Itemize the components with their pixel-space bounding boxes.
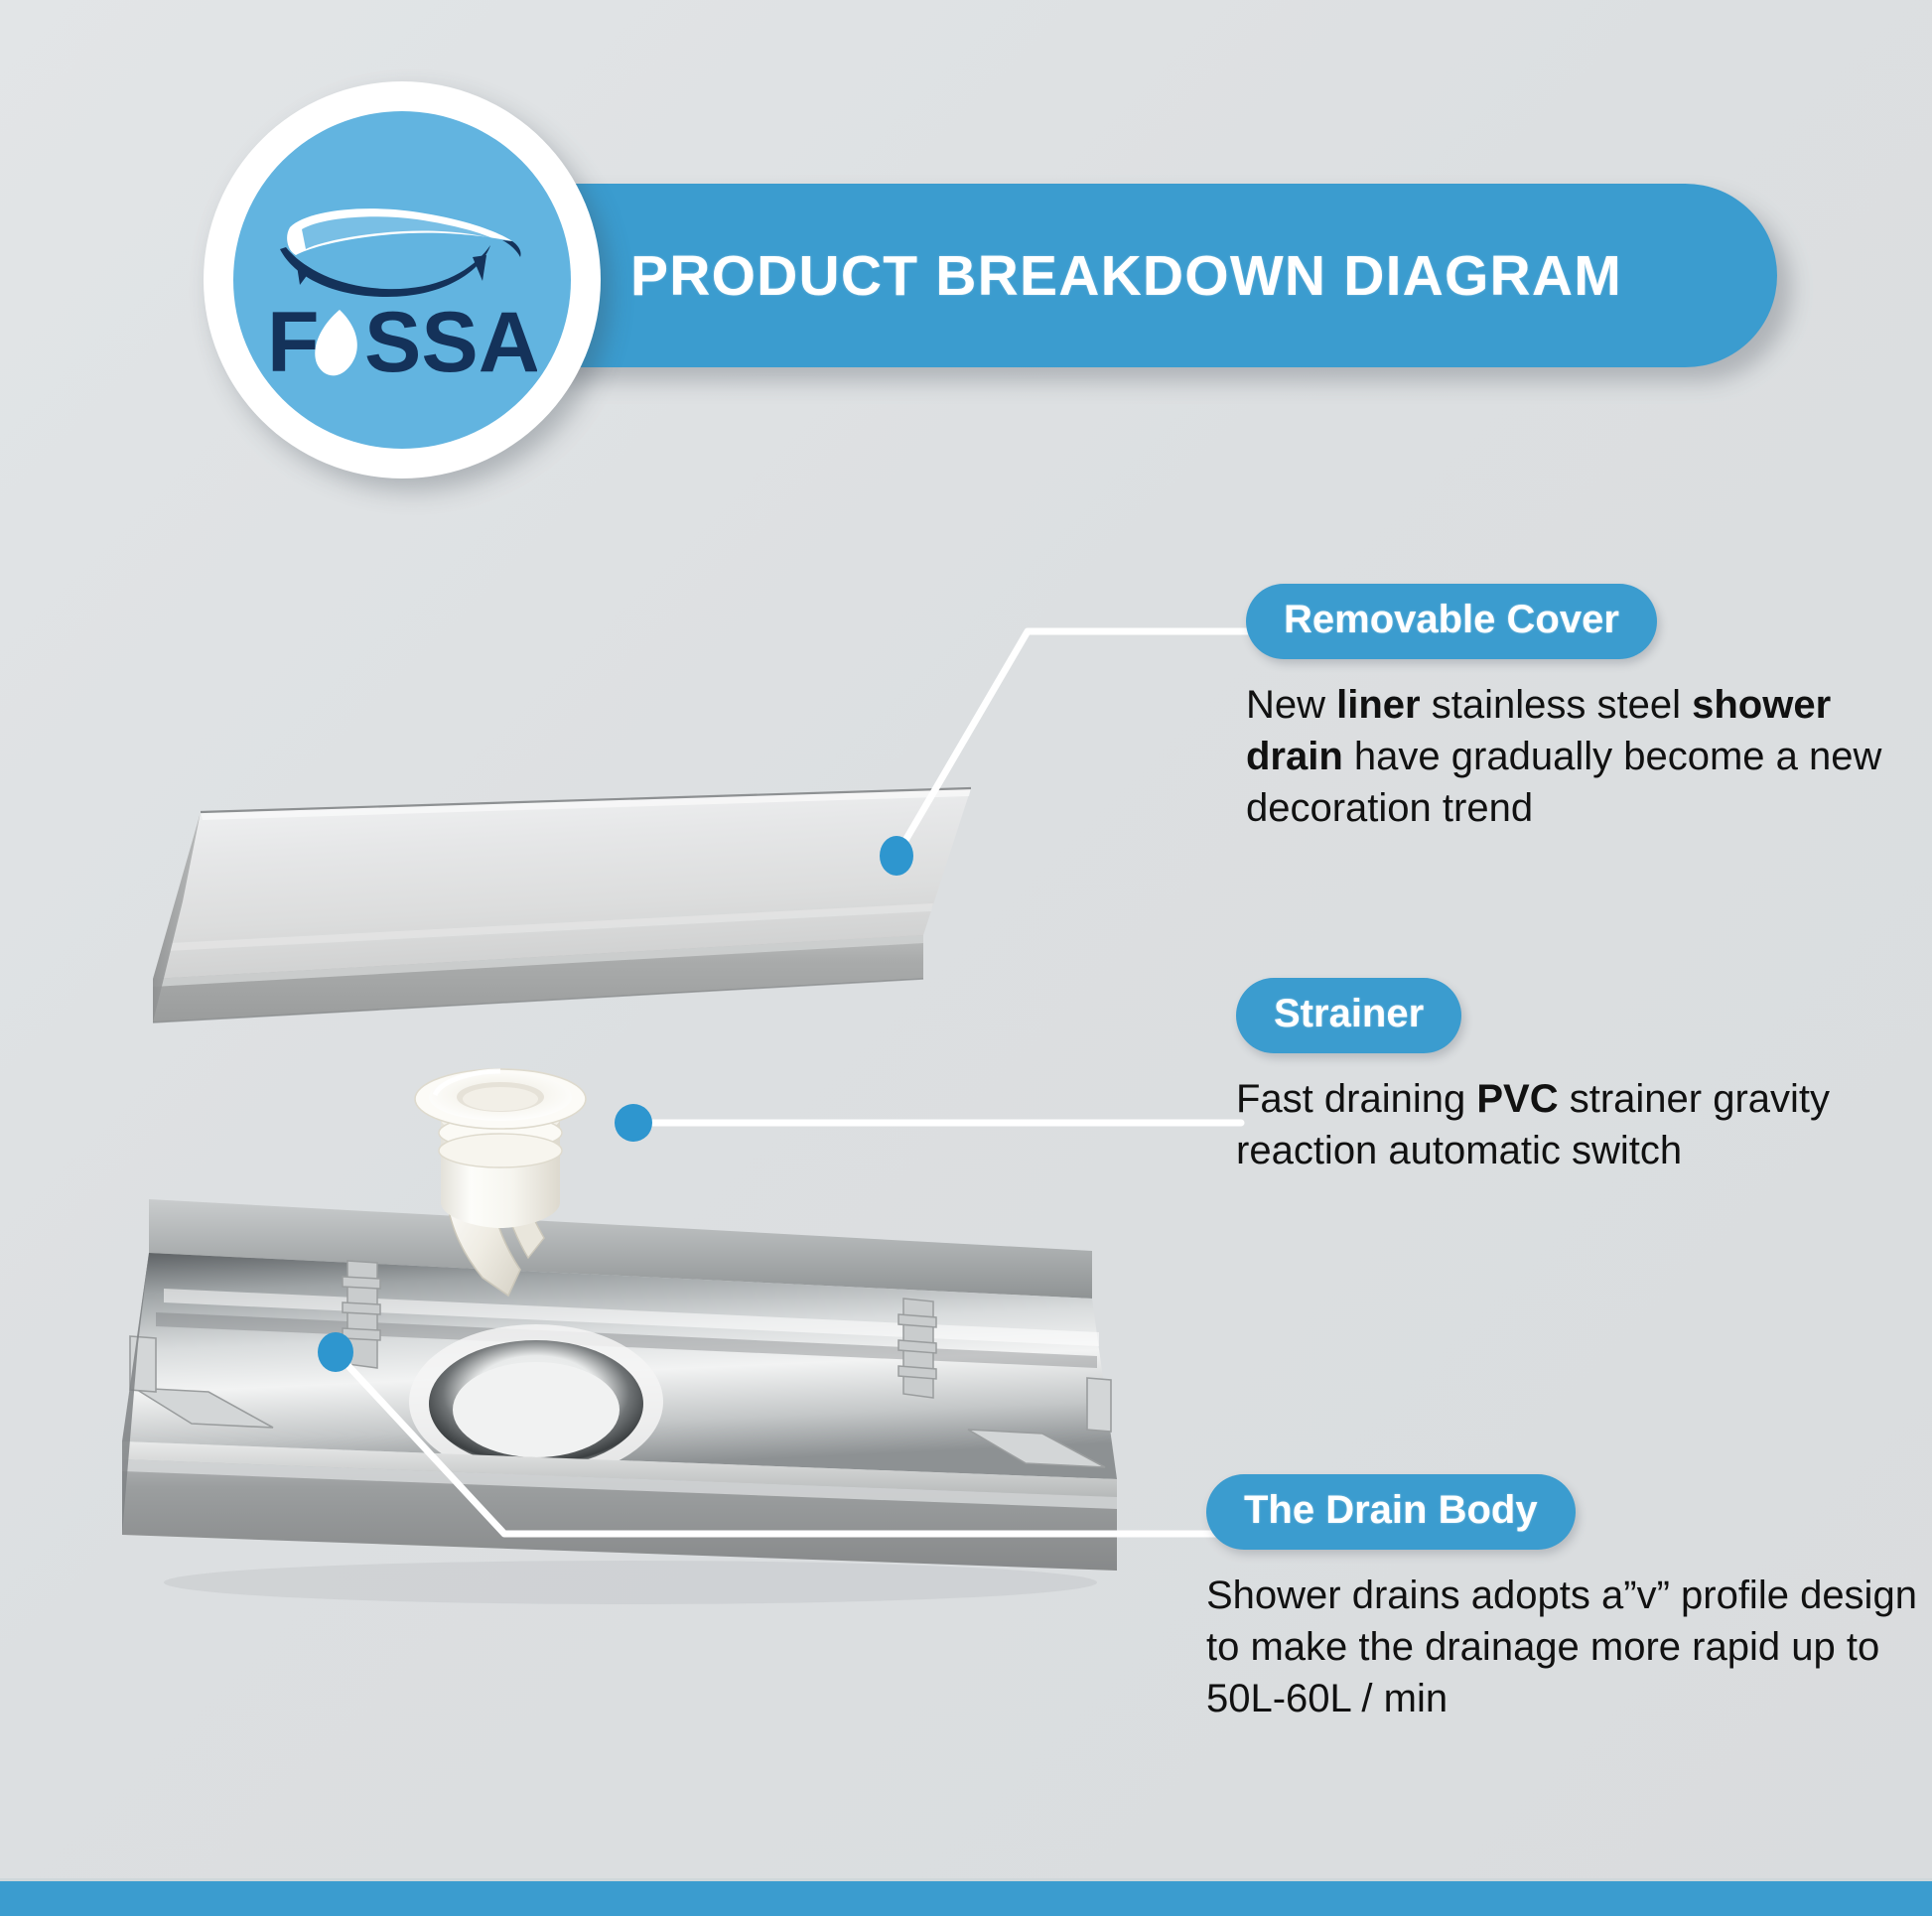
page-title: PRODUCT BREAKDOWN DIAGRAM [630,243,1622,309]
bathtub-wave-icon [278,194,526,298]
logo-wordmark: F SSA [267,294,537,389]
svg-text:F: F [267,295,320,389]
callout-body-the-drain-body: Shower drains adopts a”v” profile design… [1206,1570,1921,1724]
product-pvc-strainer [379,1047,618,1335]
callout-body-strainer: Fast draining PVC strainer gravity react… [1236,1073,1932,1176]
logo-disc: F SSA [233,111,571,449]
callout-label-the-drain-body: The Drain Body [1206,1474,1576,1550]
callout-removable-cover: Removable Cover New liner stainless stee… [1246,584,1932,834]
product-cover-plate [139,784,973,1042]
marker-dot-strainer [615,1104,652,1142]
callout-strainer: Strainer Fast draining PVC strainer grav… [1236,978,1932,1176]
brand-logo-badge: F SSA [204,81,601,479]
product-drain-body [94,1181,1147,1638]
callout-the-drain-body: The Drain Body Shower drains adopts a”v”… [1206,1474,1921,1724]
footer-accent-bar [0,1878,1932,1916]
callout-body-removable-cover: New liner stainless steel shower drain h… [1246,679,1932,834]
header-banner: PRODUCT BREAKDOWN DIAGRAM [427,184,1777,367]
diagram-canvas: PRODUCT BREAKDOWN DIAGRAM F SSA Remova [0,0,1932,1916]
svg-text:SSA: SSA [364,295,537,389]
callout-label-strainer: Strainer [1236,978,1461,1053]
callout-label-removable-cover: Removable Cover [1246,584,1657,659]
